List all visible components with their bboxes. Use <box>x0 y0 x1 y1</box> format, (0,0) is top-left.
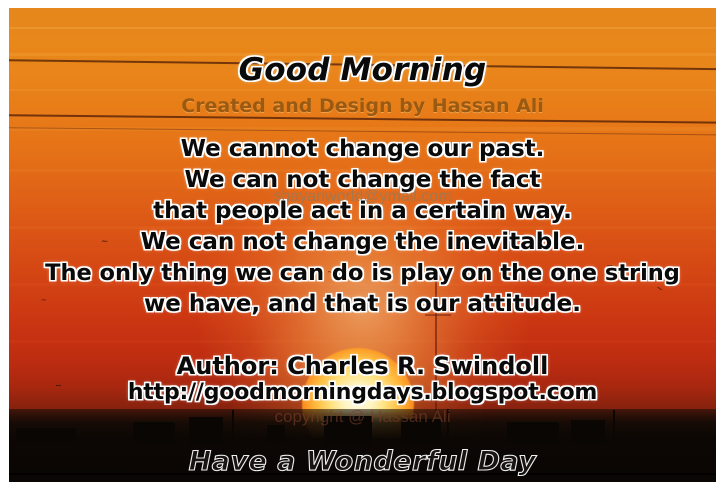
copyright-watermark: copyright @ Hassan Ali <box>9 407 716 427</box>
sunset-photograph: ∼ ∼ ∼ ∼ ∼ ∼ ∼ Good Morning Created and D… <box>9 8 716 482</box>
building-silhouette <box>267 425 285 443</box>
closing-banner: Have a Wonderful Day <box>9 446 716 477</box>
quote-attribution: Author: Charles R. Swindoll <box>9 352 716 380</box>
quote-line: We cannot change our past. <box>9 134 716 165</box>
quote-line: We can not change the inevitable. <box>9 227 716 258</box>
credit-subtitle: Created and Design by Hassan Ali <box>9 95 716 117</box>
email-watermark: shayariworld@ymail.com <box>9 188 716 206</box>
greeting-card: ∼ ∼ ∼ ∼ ∼ ∼ ∼ Good Morning Created and D… <box>0 0 724 490</box>
blog-url[interactable]: http://goodmorningdays.blogspot.com <box>9 380 716 405</box>
building-silhouette <box>16 428 76 442</box>
quote-block: We cannot change our past. We can not ch… <box>9 134 716 320</box>
page-title: Good Morning <box>9 52 716 88</box>
quote-line: we have, and that is our attitude. <box>9 289 716 320</box>
quote-line: The only thing we can do is play on the … <box>9 258 716 289</box>
